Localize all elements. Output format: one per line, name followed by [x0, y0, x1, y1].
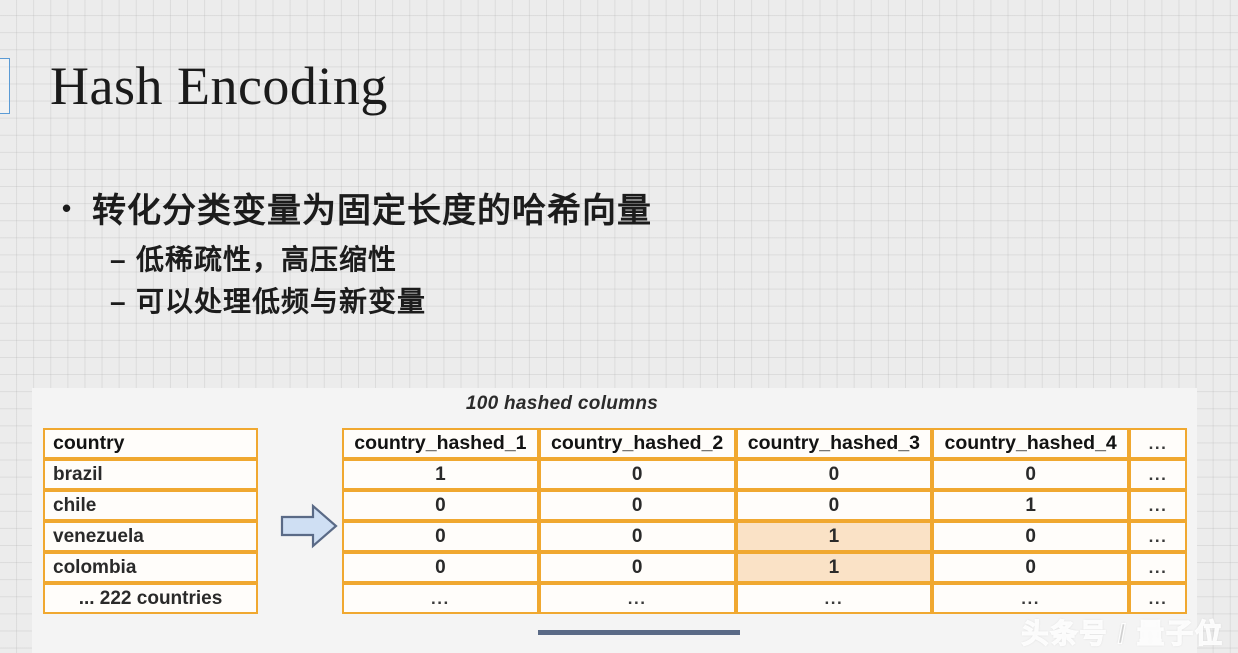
cell-hashed-value: 0 — [342, 490, 539, 521]
cell-hashed-value: 0 — [736, 459, 933, 490]
table-row: brazil — [43, 459, 258, 490]
bullet-list: • 转化分类变量为固定长度的哈希向量 – 低稀疏性，高压缩性 – 可以处理低频与… — [62, 190, 962, 323]
column-header-hashed-3: country_hashed_3 — [736, 428, 933, 459]
cell-ellipsis: ... — [1129, 490, 1187, 521]
column-header-hashed-1: country_hashed_1 — [342, 428, 539, 459]
cell-hashed-value: 0 — [736, 490, 933, 521]
cell-hashed-value: 0 — [932, 521, 1129, 552]
cell-ellipsis: ... — [736, 583, 933, 614]
bullet-level2-text: 低稀疏性，高压缩性 — [136, 239, 397, 281]
cell-ellipsis: ... — [342, 583, 539, 614]
bullet-level1-text: 转化分类变量为固定长度的哈希向量 — [92, 190, 652, 233]
cell-hashed-value: 0 — [539, 521, 736, 552]
cell-ellipsis: ... — [539, 583, 736, 614]
cell-ellipsis: ... — [932, 583, 1129, 614]
table-row: ... 222 countries — [43, 583, 258, 614]
cell-hashed-value-highlighted: 1 — [736, 552, 933, 583]
bullet-level1: • 转化分类变量为固定长度的哈希向量 — [62, 190, 962, 233]
cell-country-summary: ... 222 countries — [43, 583, 258, 614]
cell-hashed-value-highlighted: 1 — [736, 521, 933, 552]
page-title: Hash Encoding — [50, 56, 388, 116]
cell-country: venezuela — [43, 521, 258, 552]
figure-caption: 100 hashed columns — [32, 393, 1092, 415]
hash-encoding-figure: 100 hashed columns country brazil chile … — [32, 388, 1197, 653]
bullet-level2: – 低稀疏性，高压缩性 — [110, 239, 962, 281]
cell-ellipsis: ... — [1129, 552, 1187, 583]
dash-marker-icon: – — [110, 281, 136, 323]
table-row: colombia — [43, 552, 258, 583]
table-row: ... ... ... ... ... — [342, 583, 1187, 614]
bullet-level2-text: 可以处理低频与新变量 — [136, 281, 426, 323]
cell-hashed-value: 0 — [932, 552, 1129, 583]
cell-hashed-value: 0 — [342, 521, 539, 552]
cell-country: brazil — [43, 459, 258, 490]
column-header-hashed-2: country_hashed_2 — [539, 428, 736, 459]
slide-placeholder-handle[interactable] — [0, 58, 10, 114]
table-row: venezuela — [43, 521, 258, 552]
column-header-country: country — [43, 428, 258, 459]
cell-hashed-value: 1 — [932, 490, 1129, 521]
cell-ellipsis: ... — [1129, 459, 1187, 490]
cell-ellipsis: ... — [1129, 583, 1187, 614]
table-row: 0 0 1 0 ... — [342, 521, 1187, 552]
table-header-row: country_hashed_1 country_hashed_2 countr… — [342, 428, 1187, 459]
table-row: 0 0 0 1 ... — [342, 490, 1187, 521]
bullet-level2: – 可以处理低频与新变量 — [110, 281, 962, 323]
hashed-columns-table: country_hashed_1 country_hashed_2 countr… — [342, 428, 1187, 614]
hashed-table-body: 1 0 0 0 ... 0 0 0 1 ... 0 0 1 0 ... 0 — [342, 459, 1187, 614]
bullet-marker-icon: • — [62, 190, 92, 228]
table-row: chile — [43, 490, 258, 521]
source-table-body: brazil chile venezuela colombia ... 222 … — [43, 459, 258, 614]
table-header-row: country — [43, 428, 258, 459]
cell-country: chile — [43, 490, 258, 521]
selection-underline — [538, 630, 740, 635]
cell-hashed-value: 0 — [539, 459, 736, 490]
right-arrow-icon — [280, 503, 338, 549]
cell-hashed-value: 0 — [342, 552, 539, 583]
dash-marker-icon: – — [110, 239, 136, 281]
table-row: 1 0 0 0 ... — [342, 459, 1187, 490]
cell-country: colombia — [43, 552, 258, 583]
source-country-table: country brazil chile venezuela colombia … — [43, 428, 258, 614]
cell-hashed-value: 0 — [932, 459, 1129, 490]
sub-bullet-list: – 低稀疏性，高压缩性 – 可以处理低频与新变量 — [62, 239, 962, 323]
cell-hashed-value: 0 — [539, 552, 736, 583]
column-header-hashed-4: country_hashed_4 — [932, 428, 1129, 459]
table-row: 0 0 1 0 ... — [342, 552, 1187, 583]
column-header-ellipsis: ... — [1129, 428, 1187, 459]
cell-hashed-value: 1 — [342, 459, 539, 490]
cell-hashed-value: 0 — [539, 490, 736, 521]
cell-ellipsis: ... — [1129, 521, 1187, 552]
